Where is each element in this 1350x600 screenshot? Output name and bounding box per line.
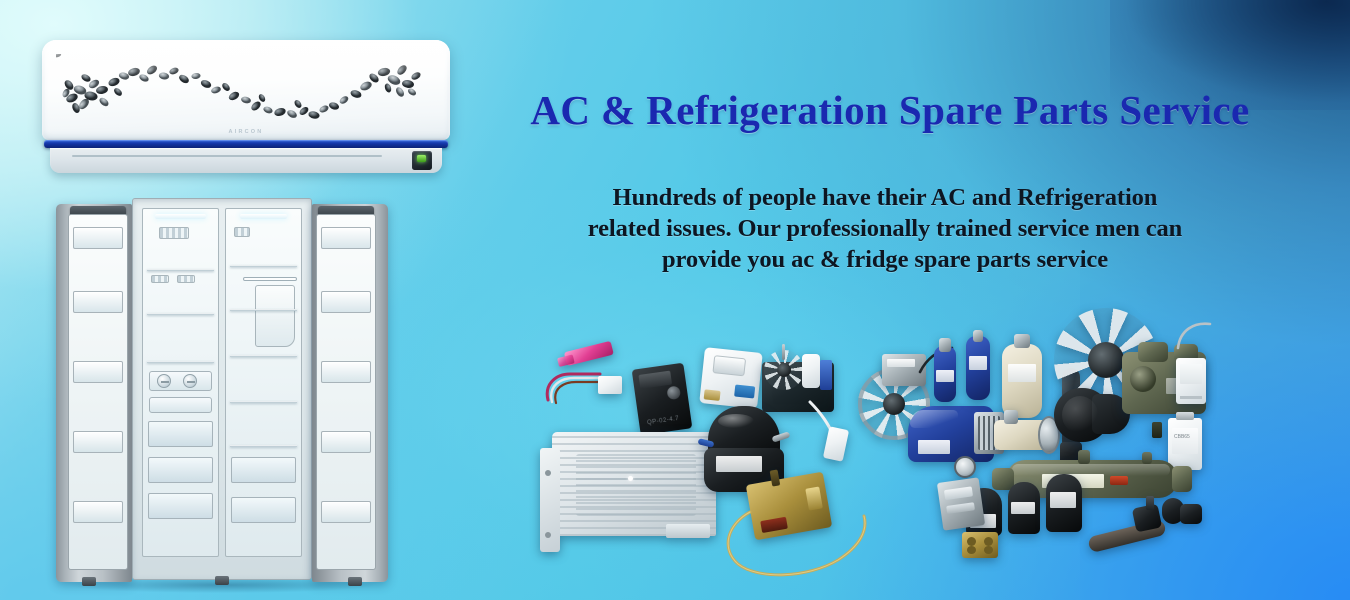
- fresh-food-shelf: [230, 309, 297, 311]
- fresh-food-shelf: [230, 265, 297, 267]
- refrigerator-left-door: [56, 204, 132, 582]
- freezer-shelf: [147, 313, 214, 315]
- filter-drier-blue-tall: [962, 330, 994, 406]
- freezer-drawer: [148, 457, 213, 483]
- capillary-tube: [688, 508, 878, 584]
- refrigerator-foot: [215, 576, 229, 585]
- ice-maker-knob: [157, 374, 171, 388]
- promo-banner: AIRCON: [0, 0, 1350, 600]
- compressor-discharge-line: [1174, 318, 1214, 352]
- door-bin: [73, 291, 123, 313]
- door-bin: [73, 501, 123, 523]
- ac-accent-stripe: [44, 140, 448, 148]
- crisper-drawer: [231, 457, 296, 483]
- ac-air-outlet-vent: [50, 148, 442, 173]
- ice-tray: [149, 397, 212, 413]
- air-conditioner-image: AIRCON: [42, 40, 450, 175]
- fresh-food-shelf: [230, 401, 297, 403]
- freezer-shelf: [147, 361, 214, 363]
- relay-overload-protector: QP-02-4.7: [632, 363, 693, 436]
- interior-led-light: [155, 214, 206, 219]
- door-bin: [321, 227, 371, 249]
- refrigerator-cabinet: [132, 198, 312, 580]
- ac-brand-label: AIRCON: [229, 129, 264, 135]
- freezer-air-vent: [151, 275, 169, 283]
- freezer-air-vent: [159, 227, 189, 239]
- fresh-food-air-vent: [234, 227, 250, 237]
- freezer-air-vent: [177, 275, 195, 283]
- door-bin: [321, 291, 371, 313]
- refrigerator-spare-parts-group: QP-02-4.7: [540, 340, 880, 585]
- fresh-food-shelf: [230, 445, 297, 447]
- banner-headline: AC & Refrigeration Spare Parts Service: [470, 86, 1310, 134]
- interior-led-light: [240, 214, 287, 219]
- freezer-drawer: [148, 421, 213, 447]
- subcopy-line-3: provide you ac & fridge spare parts serv…: [520, 244, 1250, 275]
- water-dispenser-tank: [255, 285, 295, 347]
- brass-valve-manifold: [962, 532, 998, 558]
- refrigerator-foot: [82, 577, 96, 586]
- ac-display-panel: [412, 151, 432, 170]
- freezer-compartment: [142, 208, 219, 557]
- subcopy-line-2: related issues. Our professionally train…: [520, 213, 1250, 244]
- fresh-food-shelf: [230, 355, 297, 357]
- control-box-white: [1176, 358, 1206, 404]
- door-bin: [73, 431, 123, 453]
- door-bin: [73, 227, 123, 249]
- ac-floral-decal-icon: [56, 54, 436, 126]
- air-conditioning-spare-parts-group: CBB65: [858, 308, 1204, 563]
- door-rail: [243, 277, 297, 281]
- blower-wheel-black: [1054, 384, 1130, 446]
- door-bin: [321, 361, 371, 383]
- freezer-drawer: [148, 493, 213, 519]
- ice-maker-knob: [183, 374, 197, 388]
- door-bin: [73, 361, 123, 383]
- left-door-liner: [68, 214, 128, 570]
- ac-front-panel: AIRCON: [42, 40, 450, 140]
- fresh-food-compartment: [225, 208, 302, 557]
- subcopy-line-1: Hundreds of people have their AC and Ref…: [520, 182, 1250, 213]
- filter-drier-cream: [1000, 334, 1044, 420]
- filter-drier-blue: [930, 338, 960, 406]
- right-door-liner: [316, 214, 376, 570]
- ac-vent-louver-line: [72, 155, 382, 157]
- refrigerator-right-door: [312, 204, 388, 582]
- wire-connector-plug: [598, 376, 622, 394]
- ac-power-led-icon: [417, 155, 426, 162]
- service-valve-assembly: [1088, 496, 1204, 558]
- refrigerator-image: [56, 198, 388, 588]
- crisper-drawer: [231, 497, 296, 523]
- banner-subcopy: Hundreds of people have their AC and Ref…: [520, 182, 1250, 275]
- mounting-bracket-plate: [937, 477, 985, 530]
- refrigerator-foot: [348, 577, 362, 586]
- freezer-shelf: [147, 269, 214, 271]
- door-bin: [321, 431, 371, 453]
- door-bin: [321, 501, 371, 523]
- scroll-compressor-black-large: [1044, 468, 1084, 538]
- defrost-timer-part: [699, 347, 763, 409]
- scroll-compressor-black: [1006, 476, 1042, 538]
- pressure-gauge-icon: [954, 456, 976, 478]
